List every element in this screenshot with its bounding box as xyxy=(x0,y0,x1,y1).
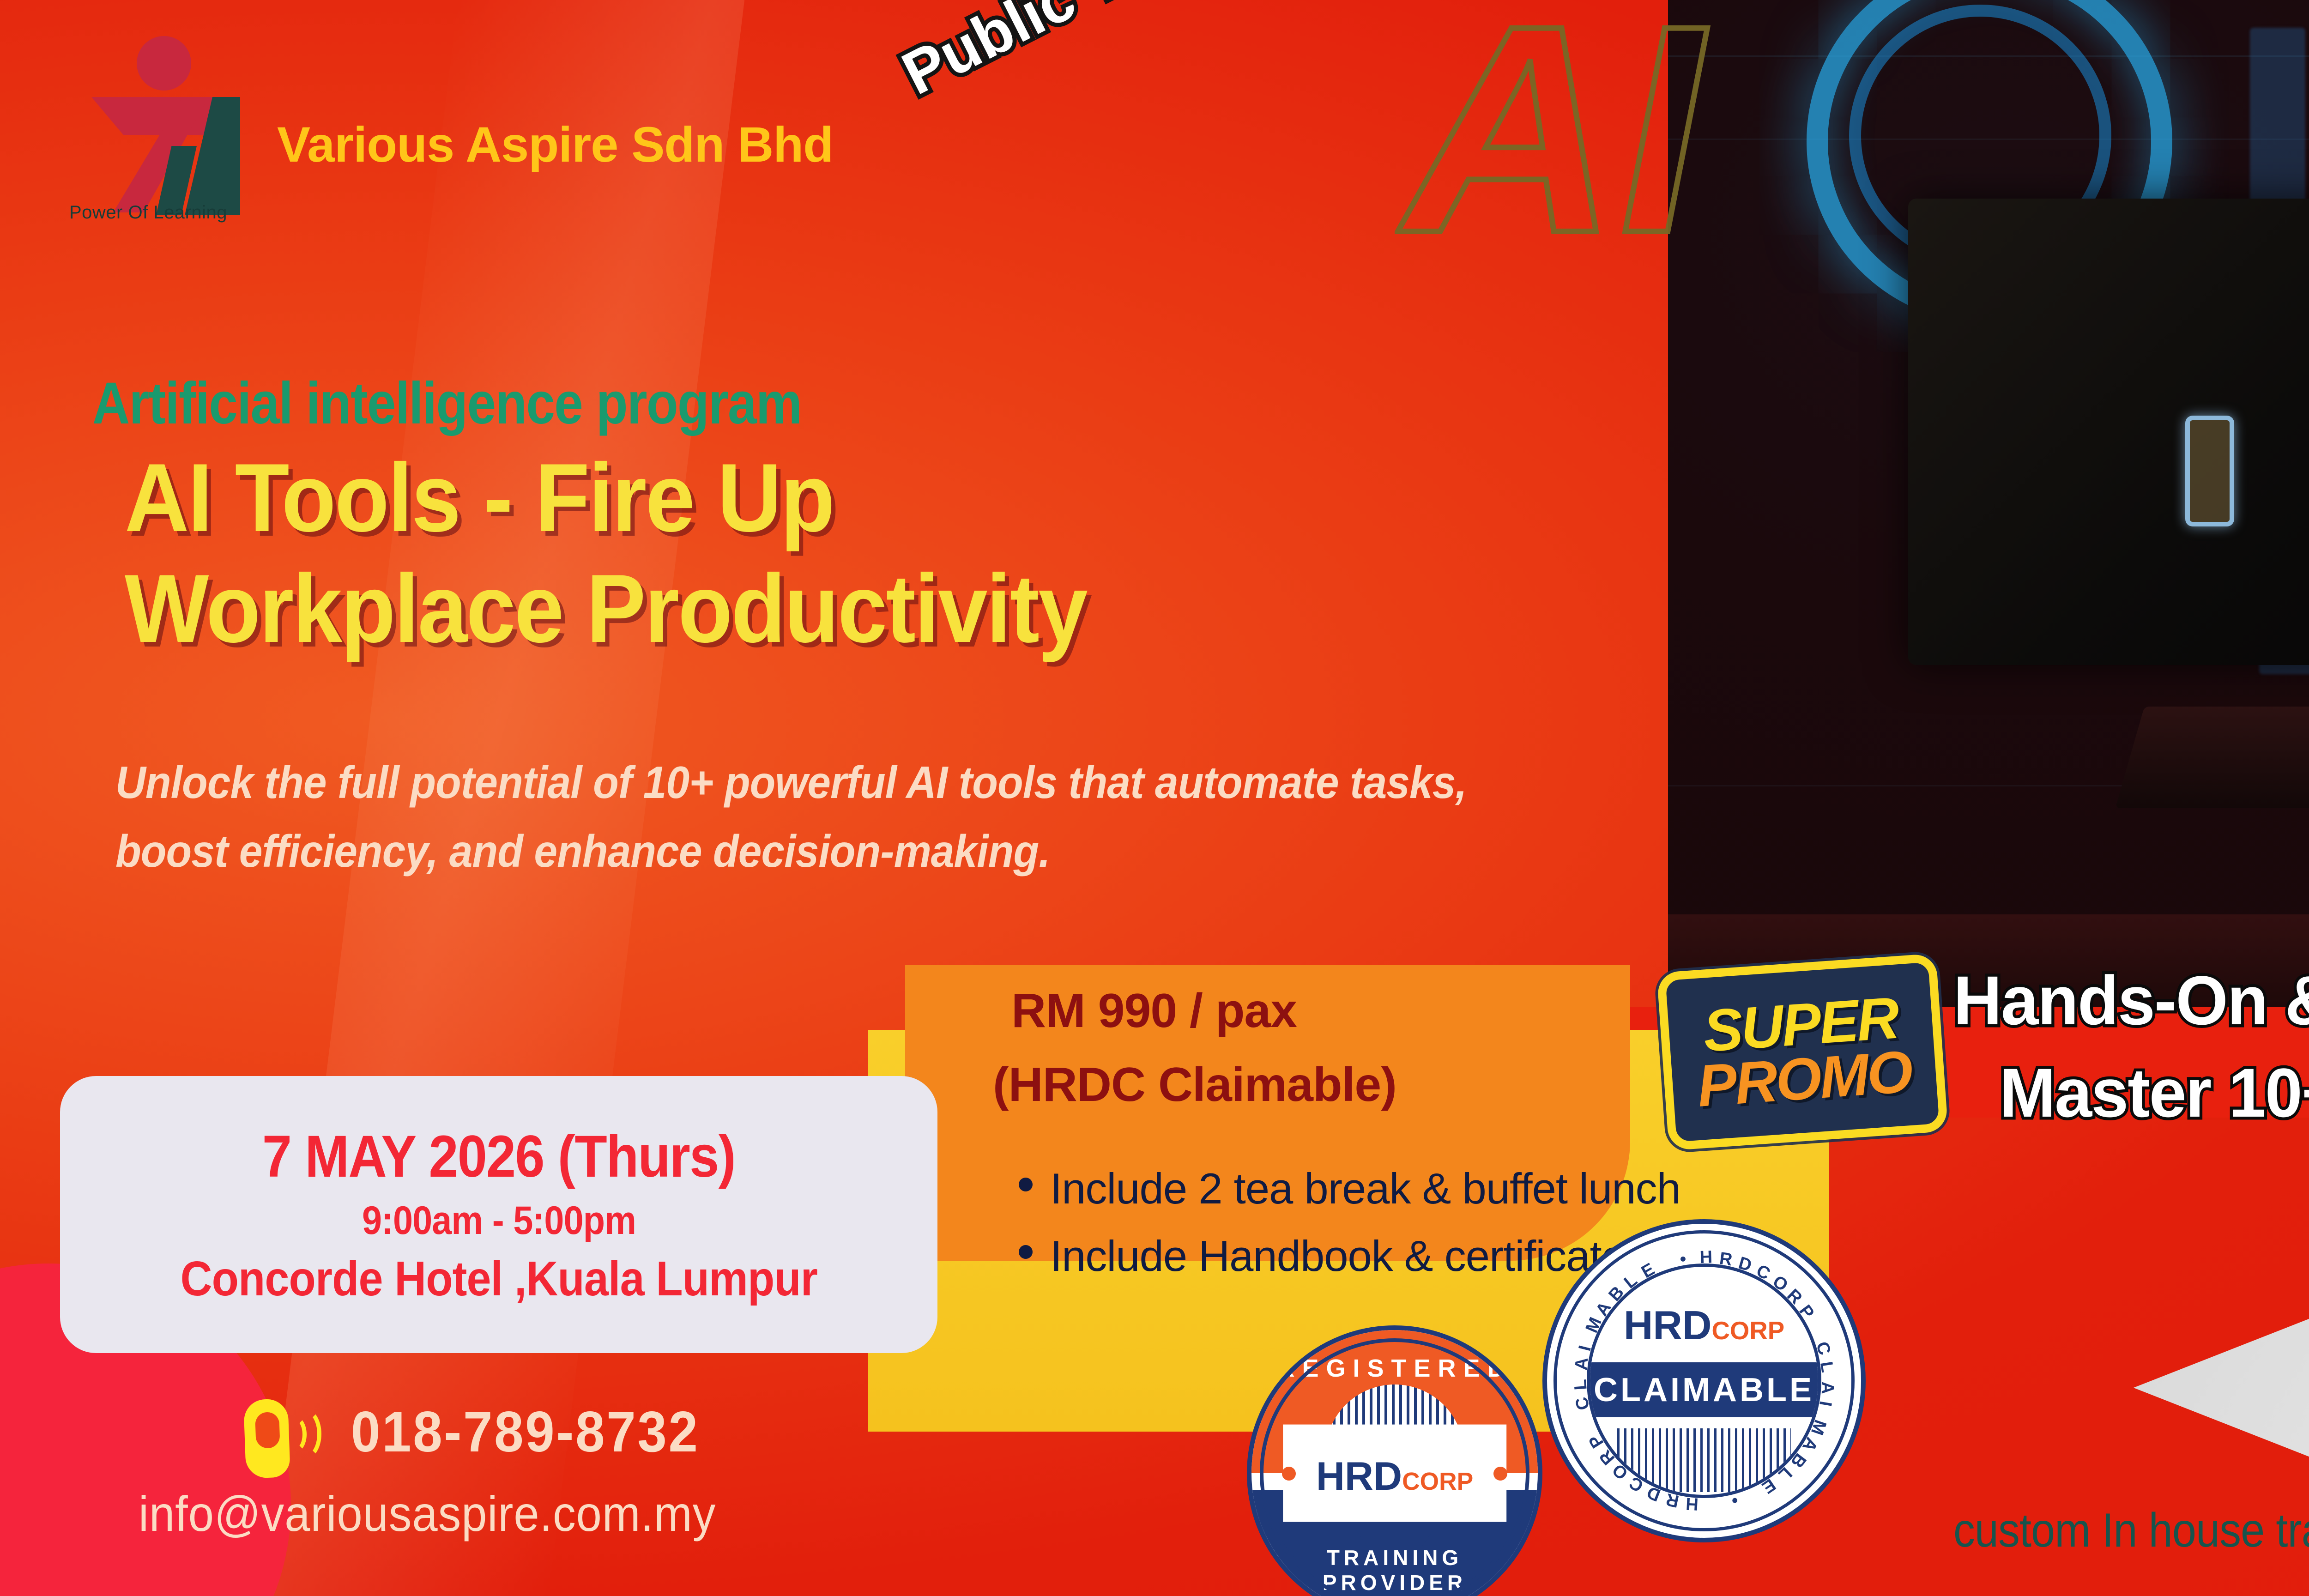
contact-email[interactable]: info@variousaspire.com.my xyxy=(139,1485,716,1542)
monitor xyxy=(1908,199,2309,665)
ringing-phone-icon xyxy=(245,1395,319,1482)
benefit-headline-1: Hands-On & Beginner-Friendly xyxy=(1953,961,2309,1040)
headline-line-2: Workplace Productivity xyxy=(125,554,1087,663)
event-date: 7 MAY 2026 (Thurs) xyxy=(262,1123,735,1191)
program-kicker: Artificial intelligence program xyxy=(92,369,801,437)
headline-line-1: AI Tools - Fire Up xyxy=(125,443,834,552)
ai-watermark-text: AI xyxy=(1404,0,1705,277)
list-item: Include 2 tea break & buffet lunch xyxy=(1016,1159,1829,1218)
price-claimable-note: (HRDC Claimable) xyxy=(993,1058,1396,1112)
corp-text: CORP xyxy=(1712,1316,1785,1345)
promo-line-2: PROMO xyxy=(1696,1045,1913,1114)
price-amount: RM 990 / pax xyxy=(1011,984,1297,1039)
event-time: 9:00am - 5:00pm xyxy=(362,1198,635,1244)
keyboard xyxy=(2115,707,2309,808)
promotional-banner: AI Power Of Learning Various Aspire Sdn … xyxy=(0,0,2309,1596)
inhouse-training-note: custom In house training can be arranged xyxy=(1953,1503,2309,1558)
smartphone xyxy=(2185,416,2234,526)
super-promo-badge: SUPER PROMO xyxy=(1656,953,1948,1150)
claimable-band-text: CLAIMABLE xyxy=(1590,1362,1818,1417)
logo-tagline: Power Of Learning xyxy=(69,202,263,223)
public-training-ribbon: Public Training xyxy=(891,0,1312,109)
hero-subcopy: Unlock the full potential of 10+ powerfu… xyxy=(115,748,1511,886)
company-name: Various Aspire Sdn Bhd xyxy=(277,115,833,173)
ai-watermark-clip: AI xyxy=(1395,0,1838,531)
running-person-growth-bars-logo xyxy=(69,28,240,199)
hrd-corp-registered-training-provider-seal: REGISTERED TRAINING PROVIDER HRD CORP xyxy=(1247,1325,1542,1596)
hrd-text: HRD xyxy=(1624,1302,1712,1349)
hrd-corp-claimable-seal: HRDCORP CLAIMABLE • HRDCORP CLAIMABLE • … xyxy=(1542,1219,1866,1542)
contact-phone[interactable]: 018-789-8732 xyxy=(351,1399,700,1465)
event-venue: Concorde Hotel ,Kuala Lumpur xyxy=(180,1251,817,1307)
benefit-headline-2: Master 10+ Practical AI tools xyxy=(2000,1053,2309,1133)
company-logo: Power Of Learning xyxy=(69,28,263,245)
event-details-card: 7 MAY 2026 (Thurs) 9:00am - 5:00pm Conco… xyxy=(60,1076,937,1353)
